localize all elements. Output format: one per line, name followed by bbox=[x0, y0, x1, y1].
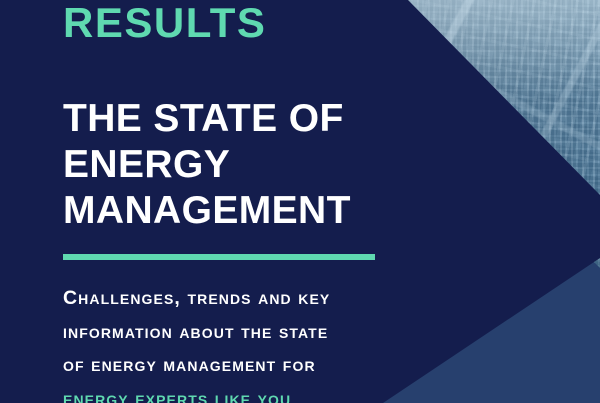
poster-text-column: RESULTS THE STATE OF ENERGY MANAGEMENT C… bbox=[63, 0, 403, 403]
subtitle-line-1: Challenges, trends and key bbox=[63, 282, 403, 316]
eyebrow-label: RESULTS bbox=[63, 0, 403, 44]
subtitle: Challenges, trends and key information a… bbox=[63, 260, 403, 403]
headline-line-1: THE STATE OF bbox=[63, 96, 403, 142]
subtitle-line-4-accent: energy experts like you bbox=[63, 383, 403, 403]
subtitle-line-3: of energy management for bbox=[63, 349, 403, 383]
poster-canvas: RESULTS THE STATE OF ENERGY MANAGEMENT C… bbox=[0, 0, 600, 403]
headline-line-3: MANAGEMENT bbox=[63, 188, 403, 234]
page-title: THE STATE OF ENERGY MANAGEMENT bbox=[63, 44, 403, 234]
subtitle-line-2: information about the state bbox=[63, 316, 403, 350]
headline-line-2: ENERGY bbox=[63, 142, 403, 188]
